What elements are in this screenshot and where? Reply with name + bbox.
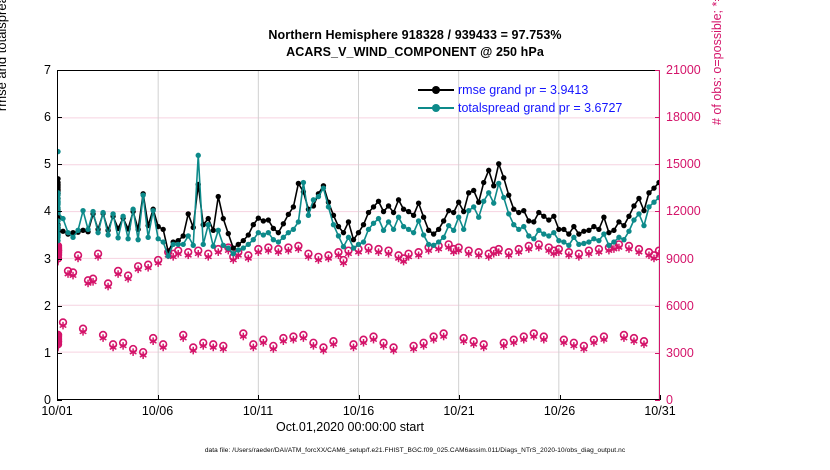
y-tick-mark-left [57, 353, 62, 354]
y-tick-mark-right [655, 306, 660, 307]
x-tick-mark [158, 395, 159, 400]
y-tick-left-2: 2 [7, 299, 51, 313]
legend-label-rmse: rmse grand pr = 3.9413 [458, 81, 588, 99]
x-tick-10/31: 10/31 [630, 404, 690, 418]
legend-item-rmse[interactable]: rmse grand pr = 3.9413 [418, 81, 622, 99]
y-tick-mark-right [655, 164, 660, 165]
x-tick-mark [57, 395, 58, 400]
legend-item-totalspread[interactable]: totalspread grand pr = 3.6727 [418, 99, 622, 117]
legend-marker-rmse-icon [418, 84, 454, 96]
y-tick-left-5: 5 [7, 157, 51, 171]
x-tick-mark [560, 395, 561, 400]
y-axis-right-label: # of obs: o=possible; *=assimilated [710, 0, 724, 125]
data-file-footer: data file: /Users/raeder/DAI/ATM_forcXX/… [0, 447, 830, 454]
x-tick-mark [660, 395, 661, 400]
x-tick-mark [258, 395, 259, 400]
y-tick-mark-right [655, 211, 660, 212]
y-tick-mark-left [57, 259, 62, 260]
y-tick-mark-left [57, 211, 62, 212]
figure-canvas: Northern Hemisphere 918328 / 939433 = 97… [0, 0, 830, 470]
legend-marker-totalspread-icon [418, 102, 454, 114]
y-tick-mark-right [655, 400, 660, 401]
y-tick-mark-right [655, 353, 660, 354]
legend-label-totalspread: totalspread grand pr = 3.6727 [458, 99, 622, 117]
y-tick-right-9000: 9000 [666, 252, 726, 266]
y-tick-mark-left [57, 164, 62, 165]
x-axis-label: Oct.01,2020 00:00:00 start [0, 420, 700, 434]
y-tick-mark-right [655, 259, 660, 260]
y-tick-left-1: 1 [7, 346, 51, 360]
y-tick-mark-left [57, 117, 62, 118]
x-tick-10/21: 10/21 [429, 404, 489, 418]
y-tick-left-4: 4 [7, 204, 51, 218]
y-tick-mark-left [57, 400, 62, 401]
x-tick-10/01: 10/01 [27, 404, 87, 418]
x-tick-mark [459, 395, 460, 400]
y-axis-left-label: rmse and totalspread [0, 0, 9, 150]
tick-label-layer: 0123456703000600090001200015000180002100… [0, 0, 830, 470]
y-tick-left-6: 6 [7, 110, 51, 124]
y-tick-right-6000: 6000 [666, 299, 726, 313]
y-tick-mark-left [57, 70, 62, 71]
y-tick-right-15000: 15000 [666, 157, 726, 171]
x-tick-10/16: 10/16 [329, 404, 389, 418]
y-tick-left-7: 7 [7, 63, 51, 77]
x-tick-mark [359, 395, 360, 400]
legend: rmse grand pr = 3.9413 totalspread grand… [418, 81, 622, 117]
y-tick-left-3: 3 [7, 252, 51, 266]
y-tick-mark-right [655, 70, 660, 71]
x-tick-10/11: 10/11 [228, 404, 288, 418]
y-tick-right-3000: 3000 [666, 346, 726, 360]
y-tick-mark-left [57, 306, 62, 307]
x-tick-10/26: 10/26 [530, 404, 590, 418]
y-tick-mark-right [655, 117, 660, 118]
y-tick-right-12000: 12000 [666, 204, 726, 218]
x-tick-10/06: 10/06 [128, 404, 188, 418]
